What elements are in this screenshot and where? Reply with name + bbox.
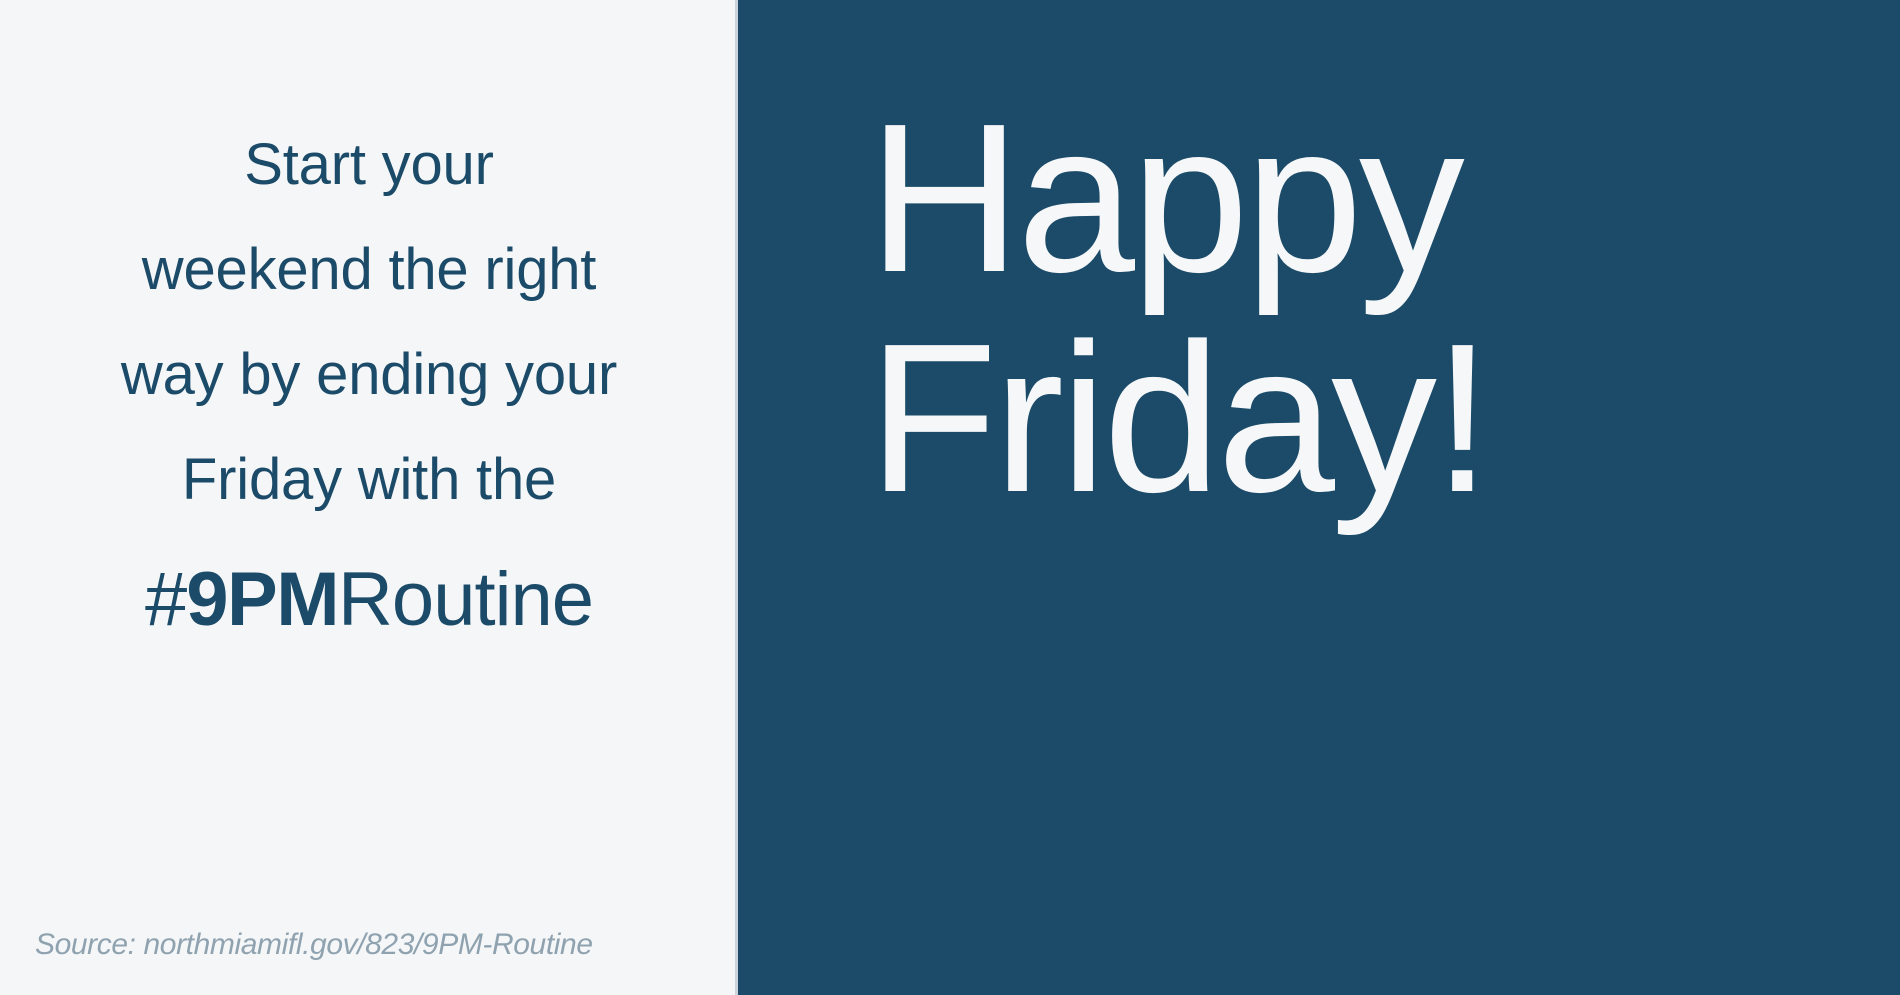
greeting-block: Happy Friday! — [868, 92, 1868, 524]
left-message-panel: Start your weekend the right way by endi… — [0, 0, 738, 995]
message-line-1: Start your — [0, 112, 738, 217]
message-line-4: Friday with the — [0, 427, 738, 532]
message-block: Start your weekend the right way by endi… — [0, 112, 738, 646]
greeting-line-1: Happy — [868, 92, 1868, 304]
message-line-2: weekend the right — [0, 217, 738, 322]
message-line-3: way by ending your — [0, 322, 738, 427]
hashtag-symbol: # — [145, 557, 186, 642]
right-greeting-panel: Happy Friday! — [738, 0, 1900, 995]
hashtag-9pm-routine: #9PMRoutine — [0, 554, 738, 646]
hashtag-light-part: Routine — [338, 557, 593, 642]
greeting-line-2: Friday! — [868, 312, 1868, 524]
source-attribution: Source: northmiamifl.gov/823/9PM-Routine — [35, 927, 593, 963]
social-graphic-card: Start your weekend the right way by endi… — [0, 0, 1900, 995]
hashtag-bold-part: 9PM — [186, 557, 338, 642]
left-panel-inner: Start your weekend the right way by endi… — [0, 0, 738, 995]
